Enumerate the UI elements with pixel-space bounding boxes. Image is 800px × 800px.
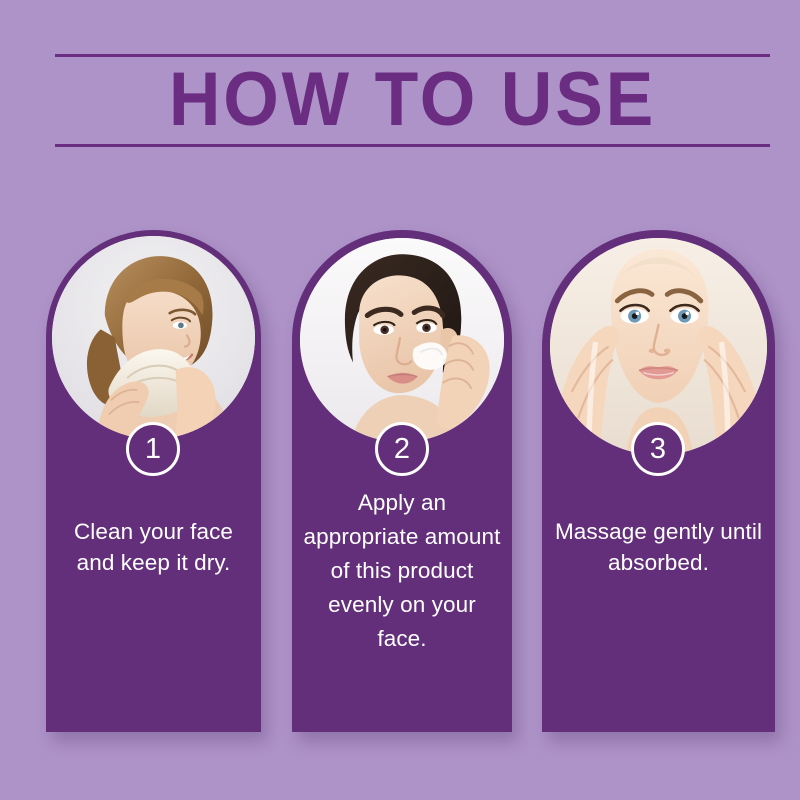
title-rule-bottom [55, 144, 770, 147]
step-3-caption: Massage gently until absorbed. [548, 516, 769, 578]
step-2-photo [300, 238, 504, 442]
step-card-1: 1 Clean your face and keep it dry. [46, 230, 261, 732]
step-1-photo [52, 236, 255, 439]
page-title: HOW TO USE [76, 58, 748, 142]
step-2-number: 2 [375, 422, 429, 476]
poster-canvas: HOW TO USE [0, 0, 800, 800]
step-3-number: 3 [631, 422, 685, 476]
step-2-caption: Apply an appropriate amount of this prod… [302, 486, 502, 656]
step-card-2: 2 Apply an appropriate amount of this pr… [292, 230, 512, 732]
header: HOW TO USE [55, 50, 770, 150]
step-1-caption: Clean your face and keep it dry. [52, 516, 255, 578]
step-1-number: 1 [126, 422, 180, 476]
step-card-3: 3 Massage gently until absorbed. [542, 230, 775, 732]
